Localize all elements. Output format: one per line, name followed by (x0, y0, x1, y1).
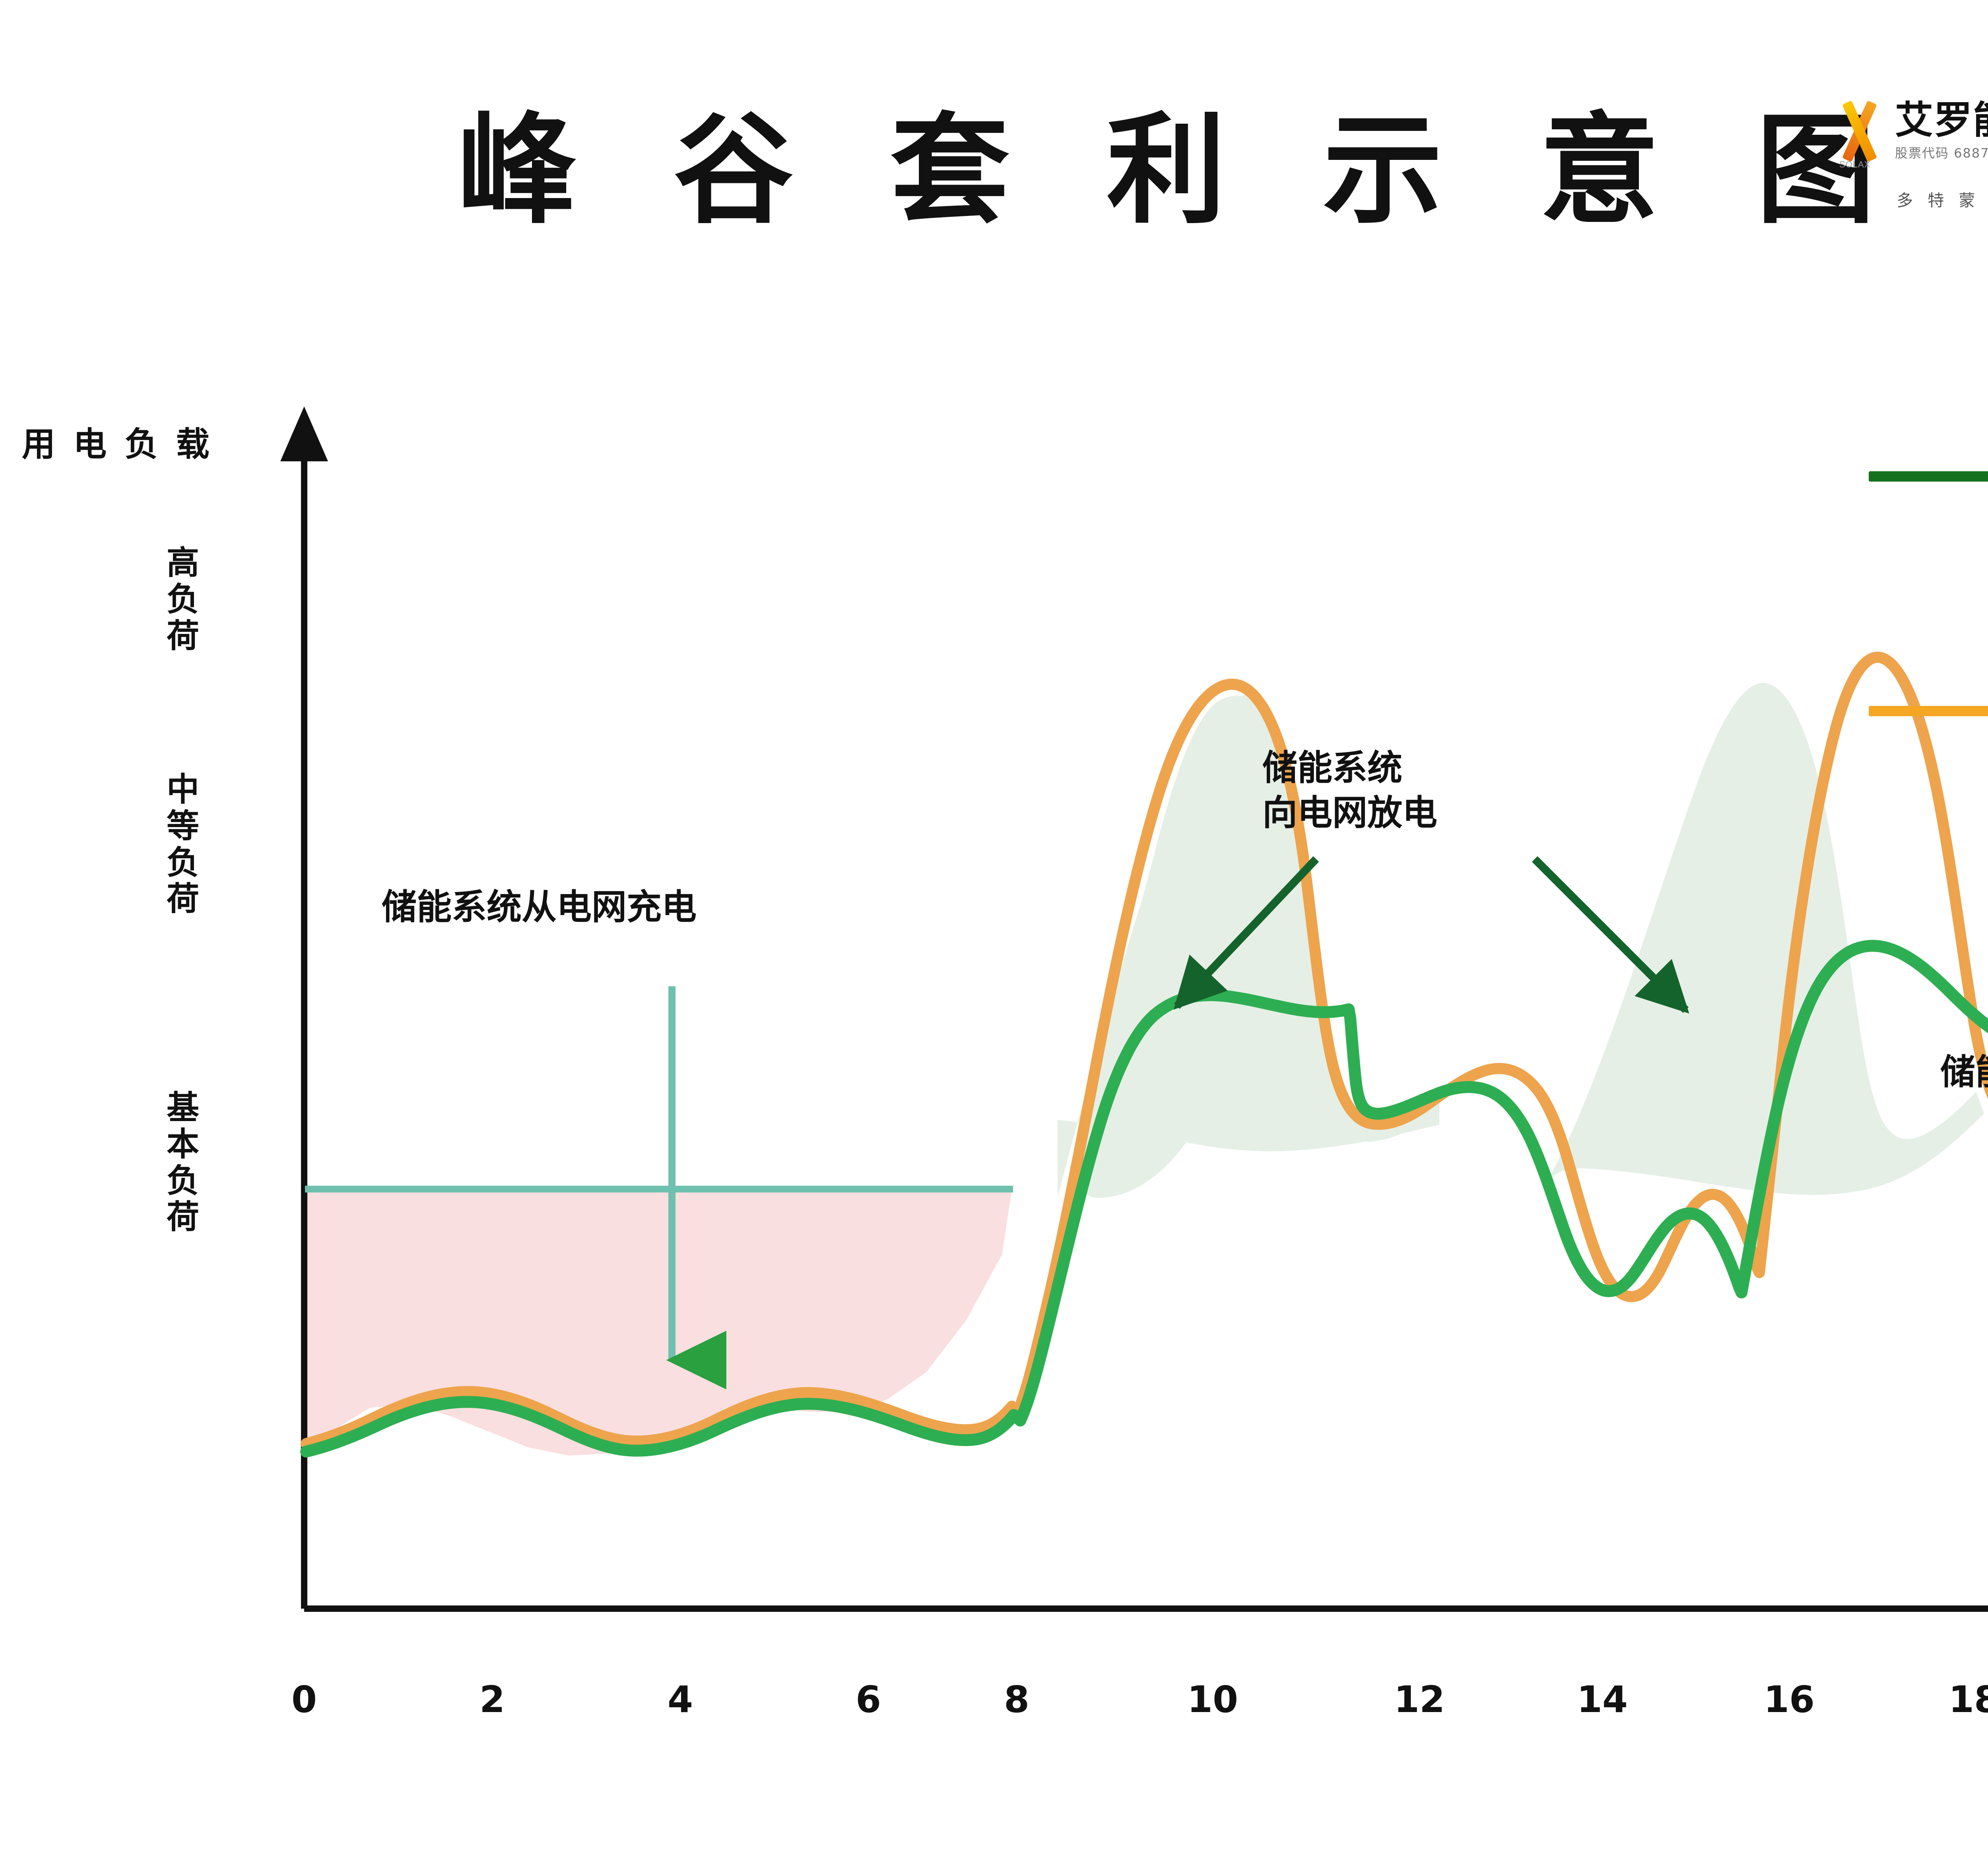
x-tick-2: 2 (460, 1678, 524, 1721)
x-tick-10: 10 (1181, 1678, 1244, 1721)
annotation-discharge: 储能系统 向电网放电 (1262, 746, 1437, 835)
legend-item-no-storage: 不配置储能系统 的电网电力需求 (1869, 664, 1988, 756)
y-band-label-base: 基 本 负 荷 (159, 1090, 207, 1236)
y-band-label-medium: 中 等 负 荷 (159, 772, 207, 917)
x-tick-12: 12 (1388, 1678, 1451, 1721)
chart-plot-area: 用 电 负 载 时间 (H) 高 负 荷 中 等 负 荷 基 本 负 荷 0 2… (0, 302, 1988, 1858)
annotation-charge-left: 储能系统从电网充电 (382, 885, 697, 930)
partner-subtitle: 多 特 蒙 德 足 球 俱 乐 部 合 作 伙 伴 (1841, 187, 1988, 211)
x-tick-18: 18 (1942, 1678, 1988, 1721)
elro-brand-text: 艾罗能源 股票代码 688717 (1895, 101, 1988, 161)
brand-logo-block: SOLAX 艾罗能源 股票代码 688717 BVB 09 PARTNER 多 … (1837, 93, 1988, 225)
annotation-charge-right: 储能系统从电网充电 (1940, 1050, 1988, 1095)
legend-item-with-storage: 配置储能系统后 的电网电力需求 (1869, 430, 1988, 522)
x-tick-14: 14 (1571, 1678, 1634, 1721)
x-tick-0: 0 (272, 1678, 336, 1721)
x-tick-4: 4 (648, 1678, 712, 1721)
elro-brand-name: 艾罗能源 (1895, 101, 1988, 139)
x-tick-8: 8 (985, 1678, 1048, 1721)
annotation-discharge-line1: 储能系统 (1262, 746, 1437, 791)
x-tick-6: 6 (837, 1678, 900, 1721)
chart-svg (0, 302, 1988, 1858)
y-band-label-high: 高 负 荷 (159, 545, 207, 654)
page-header: 峰 谷 套 利 示 意 图 SOLAX 艾罗能源 股票代码 688717 BVB… (0, 0, 1988, 302)
page-title: 峰 谷 套 利 示 意 图 (457, 74, 1769, 246)
x-tick-16: 16 (1757, 1678, 1821, 1721)
elro-x-mark-icon: SOLAX (1837, 101, 1885, 161)
legend-swatch-no-storage (1869, 706, 1988, 716)
annotation-discharge-line2: 向电网放电 (1262, 791, 1437, 836)
legend-swatch-with-storage (1869, 471, 1988, 482)
y-axis-title: 用 电 负 载 (22, 418, 213, 466)
brand-logo-row: SOLAX 艾罗能源 股票代码 688717 BVB 09 PARTNER (1837, 93, 1988, 169)
elro-mark-wordmark: SOLAX (1839, 159, 1870, 170)
elro-stock-code: 股票代码 688717 (1895, 143, 1988, 161)
